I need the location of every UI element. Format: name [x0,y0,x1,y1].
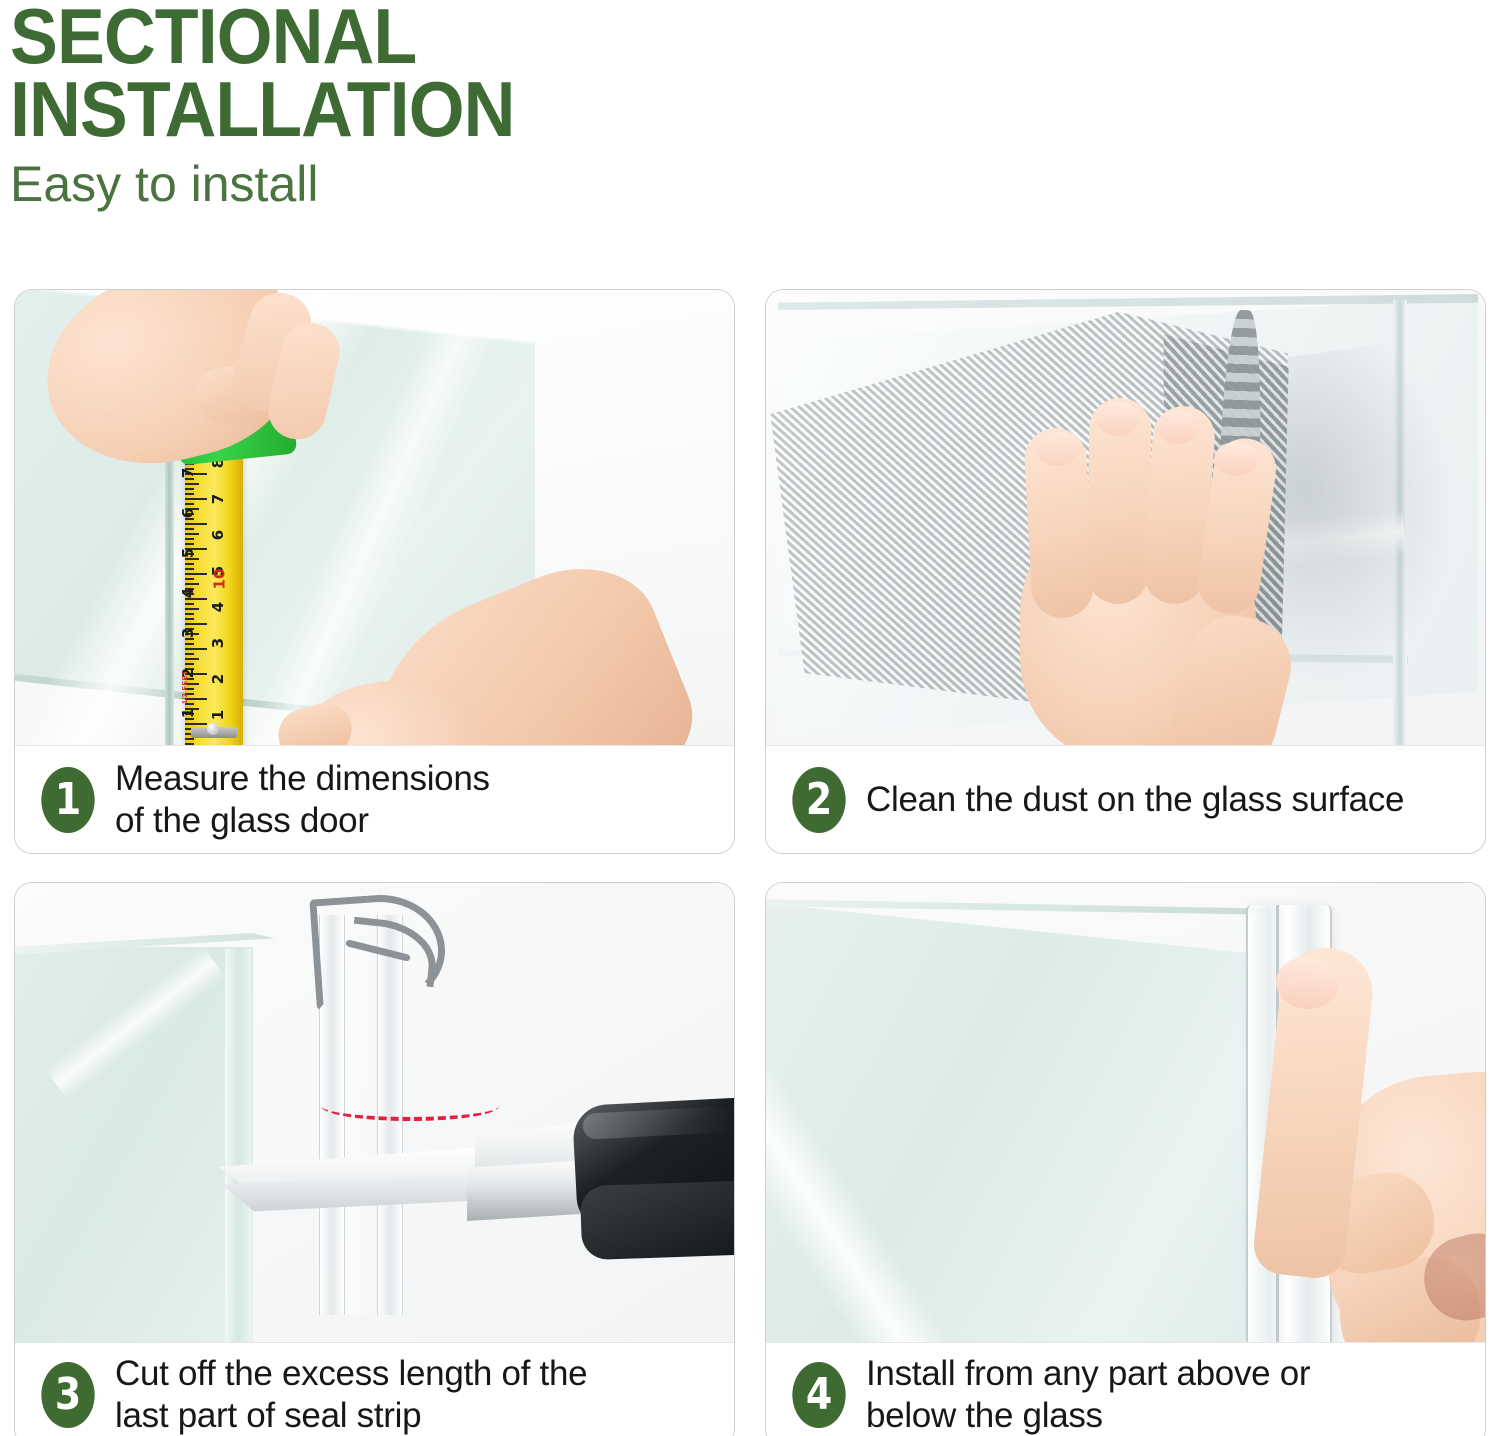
red-dashed-cut-line [321,1091,499,1121]
tape-number-outer: 1 [179,708,197,718]
hand-holding-tape [45,290,375,530]
step-1-photo: 76543218765432110 1/2 FEET [15,290,734,745]
page-subtitle: Easy to install [10,159,910,209]
step-number-badge-1: 1 [41,767,94,833]
step-2-photo [766,290,1485,745]
tape-number-outer: 3 [179,628,197,638]
tape-number-inner: 2 [209,674,227,684]
step-1-caption: 1 Measure the dimensions of the glass do… [15,745,734,853]
tape-measure-hook [191,727,237,738]
tape-small-text: 1/2 FEET [182,670,189,704]
hand-pressing-cloth [984,380,1404,745]
fingernail-index [1036,432,1080,466]
step-3-caption-text: Cut off the excess length of the last pa… [115,1353,587,1436]
tape-number-outer: 5 [179,548,197,558]
step-3-caption: 3 Cut off the excess length of the last … [15,1342,734,1436]
step-3-photo [15,883,734,1342]
hand-supporting-glass [230,590,650,745]
tape-number-inner: 6 [209,530,227,540]
glass-slab-side-edge [225,949,251,1342]
hand-pressing-strip [1228,923,1485,1342]
tape-number-inner: 4 [209,602,227,612]
header: SECTIONAL INSTALLATION Easy to install [10,0,910,209]
fingernail-ring [1156,410,1200,444]
step-4-photo [766,883,1485,1342]
tape-number-outer: 4 [179,588,197,598]
shears-black-handle-lower [580,1180,734,1261]
tape-number-inner: 1 [209,710,227,720]
step-number-badge-2: 2 [792,767,845,833]
step-card-2: 2 Clean the dust on the glass surface [765,289,1486,854]
step-number-badge-4: 4 [792,1362,845,1428]
tape-number-highlight: 10 [210,569,228,590]
step-number-badge-3: 3 [41,1362,94,1428]
step-4-caption-text: Install from any part above or below the… [866,1353,1310,1436]
installation-steps-grid: 76543218765432110 1/2 FEET [14,289,1486,1429]
step-card-4: 4 Install from any part above or below t… [765,882,1486,1436]
fingernail-little [1214,442,1258,476]
page-title: SECTIONAL INSTALLATION [10,0,838,145]
fingernail-middle [1096,402,1140,436]
step-card-3: 3 Cut off the excess length of the last … [14,882,735,1436]
product-instruction-page: SECTIONAL INSTALLATION Easy to install 7… [0,0,1500,1436]
tape-number-inner: 3 [209,638,227,648]
step-1-caption-text: Measure the dimensions of the glass door [115,758,490,841]
step-2-caption: 2 Clean the dust on the glass surface [766,745,1485,853]
step-2-caption-text: Clean the dust on the glass surface [866,779,1404,820]
step-4-caption: 4 Install from any part above or below t… [766,1342,1485,1436]
step-card-1: 76543218765432110 1/2 FEET [14,289,735,854]
